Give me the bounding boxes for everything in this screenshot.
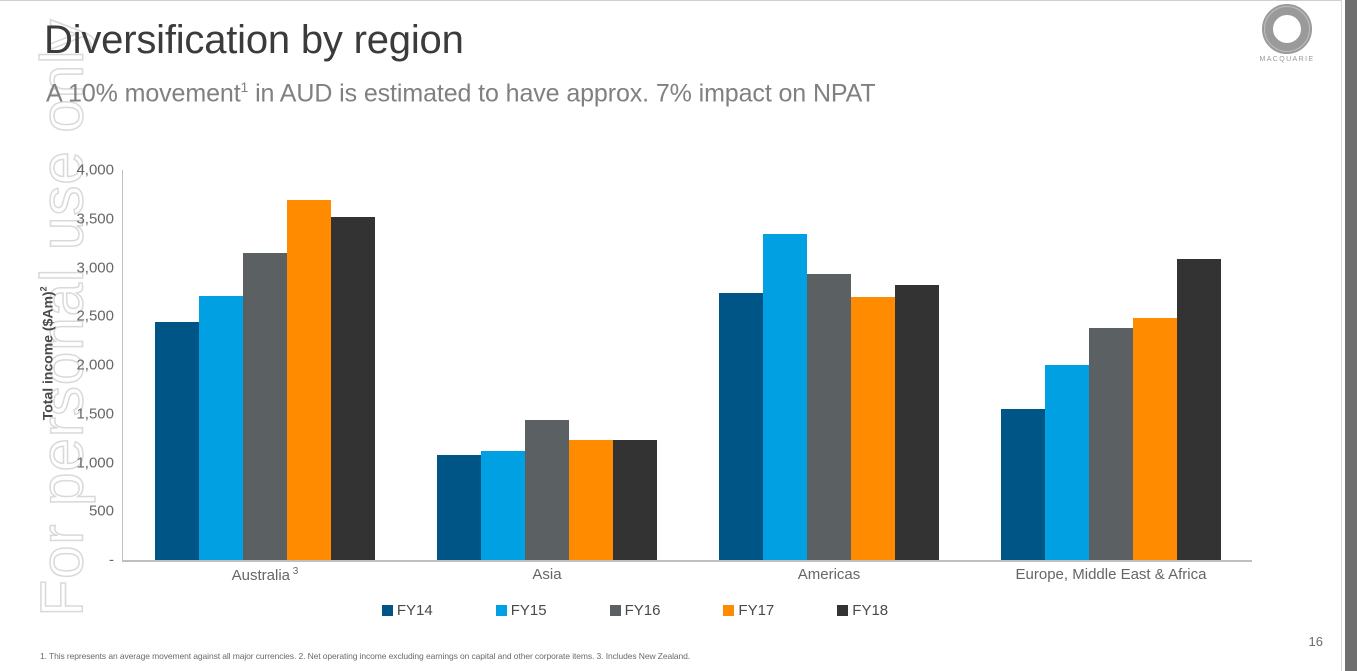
slide-canvas: For personal use only Diversification by… <box>0 0 1357 671</box>
subtitle-after: in AUD is estimated to have approx. 7% i… <box>248 79 875 107</box>
legend-label: FY16 <box>625 602 661 619</box>
x-axis-labels: Australia 3AsiaAmericasEurope, Middle Ea… <box>124 566 1252 584</box>
y-axis-tick: 4,000 <box>14 162 114 179</box>
bar-fy17-americas[interactable] <box>851 297 895 560</box>
x-axis-label: Australia 3 <box>124 566 406 584</box>
bar-group <box>688 170 970 560</box>
bar-fy18-europe-middle-east-africa[interactable] <box>1177 259 1221 560</box>
bar-fy18-asia[interactable] <box>613 440 657 560</box>
bar-fy14-americas[interactable] <box>719 293 763 560</box>
bar-fy15-europe-middle-east-africa[interactable] <box>1045 365 1089 560</box>
y-axis-tick: 1,000 <box>14 454 114 471</box>
footnote: 1. This represents an average movement a… <box>40 651 690 661</box>
x-axis-label: Asia <box>406 566 688 584</box>
chart-legend: FY14FY15FY16FY17FY18 <box>0 602 1270 619</box>
y-axis-tick: 1,500 <box>14 405 114 422</box>
right-edge-band <box>1345 0 1357 671</box>
bar-group <box>406 170 688 560</box>
bar-chart: Total income ($Am)2 4,0003,5003,0002,500… <box>0 140 1345 640</box>
y-axis-tick: 3,000 <box>14 259 114 276</box>
bar-fy17-australia[interactable] <box>287 200 331 560</box>
y-axis-tick: 3,500 <box>14 210 114 227</box>
legend-item-fy18[interactable]: FY18 <box>837 602 888 619</box>
page-title: Diversification by region <box>44 18 464 63</box>
bar-fy15-asia[interactable] <box>481 451 525 560</box>
x-axis-label: Europe, Middle East & Africa <box>970 566 1252 584</box>
page-subtitle: A 10% movement1 in AUD is estimated to h… <box>46 79 876 108</box>
bar-group <box>124 170 406 560</box>
top-divider <box>0 0 1345 1</box>
bar-fy16-australia[interactable] <box>243 253 287 560</box>
x-axis-label: Americas <box>688 566 970 584</box>
legend-swatch-icon <box>382 605 393 616</box>
bar-fy14-australia[interactable] <box>155 322 199 560</box>
bar-fy17-europe-middle-east-africa[interactable] <box>1133 318 1177 560</box>
legend-item-fy17[interactable]: FY17 <box>723 602 774 619</box>
bar-group <box>970 170 1252 560</box>
y-axis-ticks: 4,0003,5003,0002,5002,0001,5001,000500- <box>8 170 114 560</box>
legend-label: FY18 <box>852 602 888 619</box>
macquarie-logo-text: MACQUARIE <box>1253 56 1321 63</box>
legend-item-fy15[interactable]: FY15 <box>496 602 547 619</box>
y-axis-tick: - <box>14 552 114 569</box>
macquarie-logo: MACQUARIE <box>1253 4 1321 66</box>
macquarie-ring-icon <box>1262 4 1312 54</box>
bar-fy14-asia[interactable] <box>437 455 481 560</box>
bar-groups <box>124 170 1252 560</box>
bar-fy16-americas[interactable] <box>807 274 851 560</box>
y-axis-tick: 2,000 <box>14 357 114 374</box>
page-number: 16 <box>1309 634 1323 649</box>
legend-label: FY15 <box>511 602 547 619</box>
y-axis-tick: 500 <box>14 503 114 520</box>
bar-fy15-australia[interactable] <box>199 296 243 560</box>
legend-swatch-icon <box>837 605 848 616</box>
legend-item-fy16[interactable]: FY16 <box>610 602 661 619</box>
subtitle-before: A 10% movement <box>46 79 241 107</box>
bar-fy18-americas[interactable] <box>895 285 939 560</box>
legend-item-fy14[interactable]: FY14 <box>382 602 433 619</box>
bar-fy15-americas[interactable] <box>763 234 807 560</box>
bar-fy17-asia[interactable] <box>569 440 613 560</box>
bar-fy18-australia[interactable] <box>331 217 375 560</box>
x-axis-line <box>122 560 1252 562</box>
bar-fy16-europe-middle-east-africa[interactable] <box>1089 328 1133 560</box>
bar-fy14-europe-middle-east-africa[interactable] <box>1001 409 1045 560</box>
legend-label: FY14 <box>397 602 433 619</box>
legend-swatch-icon <box>496 605 507 616</box>
legend-label: FY17 <box>738 602 774 619</box>
legend-swatch-icon <box>610 605 621 616</box>
legend-swatch-icon <box>723 605 734 616</box>
bar-fy16-asia[interactable] <box>525 420 569 560</box>
y-axis-tick: 2,500 <box>14 308 114 325</box>
x-label-footnote-marker: 3 <box>290 566 298 577</box>
